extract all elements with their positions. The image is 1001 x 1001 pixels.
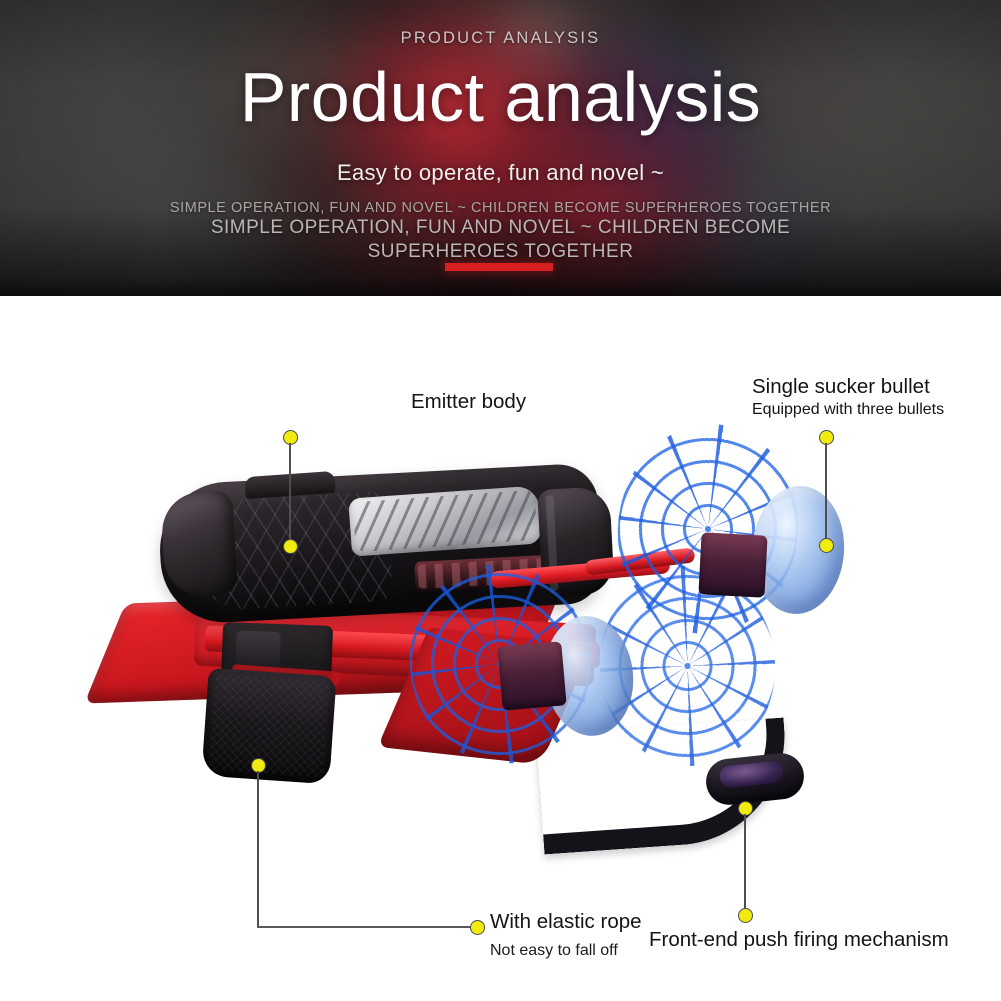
callout-line-push-firing	[744, 814, 746, 908]
callout-label-emitter-body: Emitter body	[411, 390, 526, 414]
callout-line-single-sucker-bullet	[825, 443, 827, 548]
callout-title-elastic-rope: With elastic rope	[490, 910, 642, 934]
callout-dot-elastic-rope-label[interactable]	[470, 920, 485, 935]
dart-hub-right	[698, 532, 767, 597]
callout-dot-emitter-body-anchor[interactable]	[283, 539, 298, 554]
callout-dot-push-firing-label[interactable]	[738, 908, 753, 923]
callout-label-single-sucker-bullet: Single sucker bullet Equipped with three…	[752, 374, 967, 420]
callout-line-emitter-body	[289, 443, 291, 548]
callout-line-elastic-rope-vertical	[257, 771, 259, 927]
page-title: Product analysis	[0, 62, 1001, 132]
banner-subtitle: Easy to operate, fun and novel ~	[0, 160, 1001, 186]
product-image-area: Emitter body Single sucker bullet Equipp…	[0, 296, 1001, 1001]
banner-eyebrow: PRODUCT ANALYSIS	[0, 29, 1001, 48]
callout-dot-single-sucker-bullet-anchor[interactable]	[819, 538, 834, 553]
callout-subtitle-single-sucker-bullet: Equipped with three bullets	[752, 400, 967, 420]
callout-title-single-sucker-bullet: Single sucker bullet	[752, 374, 967, 400]
header-banner: PRODUCT ANALYSIS Product analysis Easy t…	[0, 0, 1001, 296]
banner-content: PRODUCT ANALYSIS Product analysis Easy t…	[0, 0, 1001, 296]
banner-caption-large: SIMPLE OPERATION, FUN AND NOVEL ~ CHILDR…	[170, 216, 831, 264]
callout-line-elastic-rope-horizontal	[257, 926, 473, 928]
banner-caption-small: SIMPLE OPERATION, FUN AND NOVEL ~ CHILDR…	[0, 200, 1001, 216]
dart-hub-left	[497, 641, 566, 710]
callout-subtitle-elastic-rope: Not easy to fall off	[490, 942, 618, 960]
callout-title-push-firing: Front-end push firing mechanism	[649, 928, 949, 952]
product-analysis-infographic: PRODUCT ANALYSIS Product analysis Easy t…	[0, 0, 1001, 1001]
accent-underline-bar	[445, 263, 553, 271]
elastic-rope-strap	[201, 668, 336, 785]
